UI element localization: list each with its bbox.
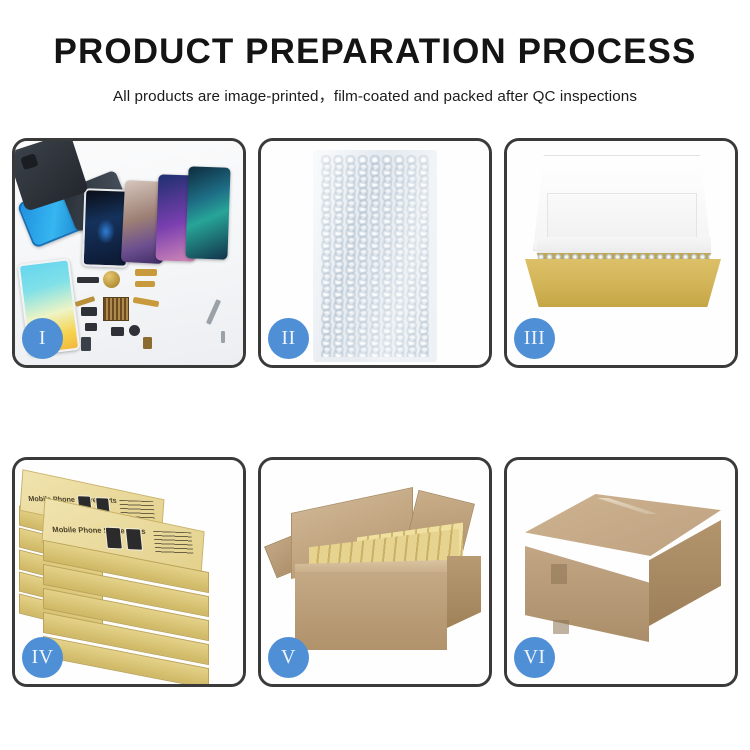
process-step-panel-5: V bbox=[258, 457, 492, 687]
screw-bag-icon bbox=[143, 337, 152, 349]
sealed-carton-front-icon bbox=[525, 546, 649, 642]
process-step-panel-1: I bbox=[12, 138, 246, 368]
connector-chip-icon-4 bbox=[111, 327, 124, 336]
step-badge-3: III bbox=[514, 318, 555, 359]
process-step-panel-3: III bbox=[504, 138, 738, 368]
carton-front-icon bbox=[295, 572, 447, 650]
phone-screen-icon-4 bbox=[185, 166, 230, 259]
flex-cable-icon-3 bbox=[133, 297, 160, 307]
flex-cable-icon-1 bbox=[135, 269, 157, 276]
ribbon-cable-icon bbox=[75, 296, 96, 307]
carton-hand-hole-icon-2 bbox=[553, 620, 569, 634]
kraft-box-base-icon bbox=[525, 259, 721, 307]
step-badge-1: I bbox=[22, 318, 63, 359]
tweezers-icon bbox=[206, 299, 221, 325]
box-phone-image-3 bbox=[105, 527, 123, 550]
page-subtitle: All products are image-printed，film-coat… bbox=[0, 84, 750, 106]
plastic-sheen-icon bbox=[313, 150, 437, 362]
page-title: PRODUCT PREPARATION PROCESS bbox=[0, 34, 750, 71]
box-phone-image-4 bbox=[125, 528, 143, 551]
chip-array-icon bbox=[103, 297, 129, 321]
battery-part-icon bbox=[81, 337, 91, 351]
process-step-panel-6: VI bbox=[504, 457, 738, 687]
carton-hand-hole-icon-1 bbox=[551, 564, 567, 584]
process-step-panel-4: Mobile Phone Spare Parts Mobile Phone Sp… bbox=[12, 457, 246, 687]
connector-chip-icon-1 bbox=[77, 277, 99, 283]
step-badge-4: IV bbox=[22, 637, 63, 678]
infographic-page: PRODUCT PREPARATION PROCESS All products… bbox=[0, 0, 750, 750]
carton-side-icon bbox=[447, 556, 481, 628]
speaker-coil-icon bbox=[103, 271, 120, 288]
step-badge-5: V bbox=[268, 637, 309, 678]
connector-chip-icon-3 bbox=[85, 323, 97, 331]
page-header: PRODUCT PREPARATION PROCESS All products… bbox=[0, 0, 750, 106]
step-badge-6: VI bbox=[514, 637, 555, 678]
process-step-panel-2: II bbox=[258, 138, 492, 368]
box-spec-lines-2 bbox=[153, 531, 193, 555]
connector-chip-icon-2 bbox=[81, 307, 97, 316]
process-step-grid: I II III bbox=[12, 138, 738, 687]
screwdriver-icon bbox=[221, 331, 225, 343]
button-part-icon bbox=[129, 325, 140, 336]
step-badge-2: II bbox=[268, 318, 309, 359]
flex-cable-icon-2 bbox=[135, 281, 155, 287]
